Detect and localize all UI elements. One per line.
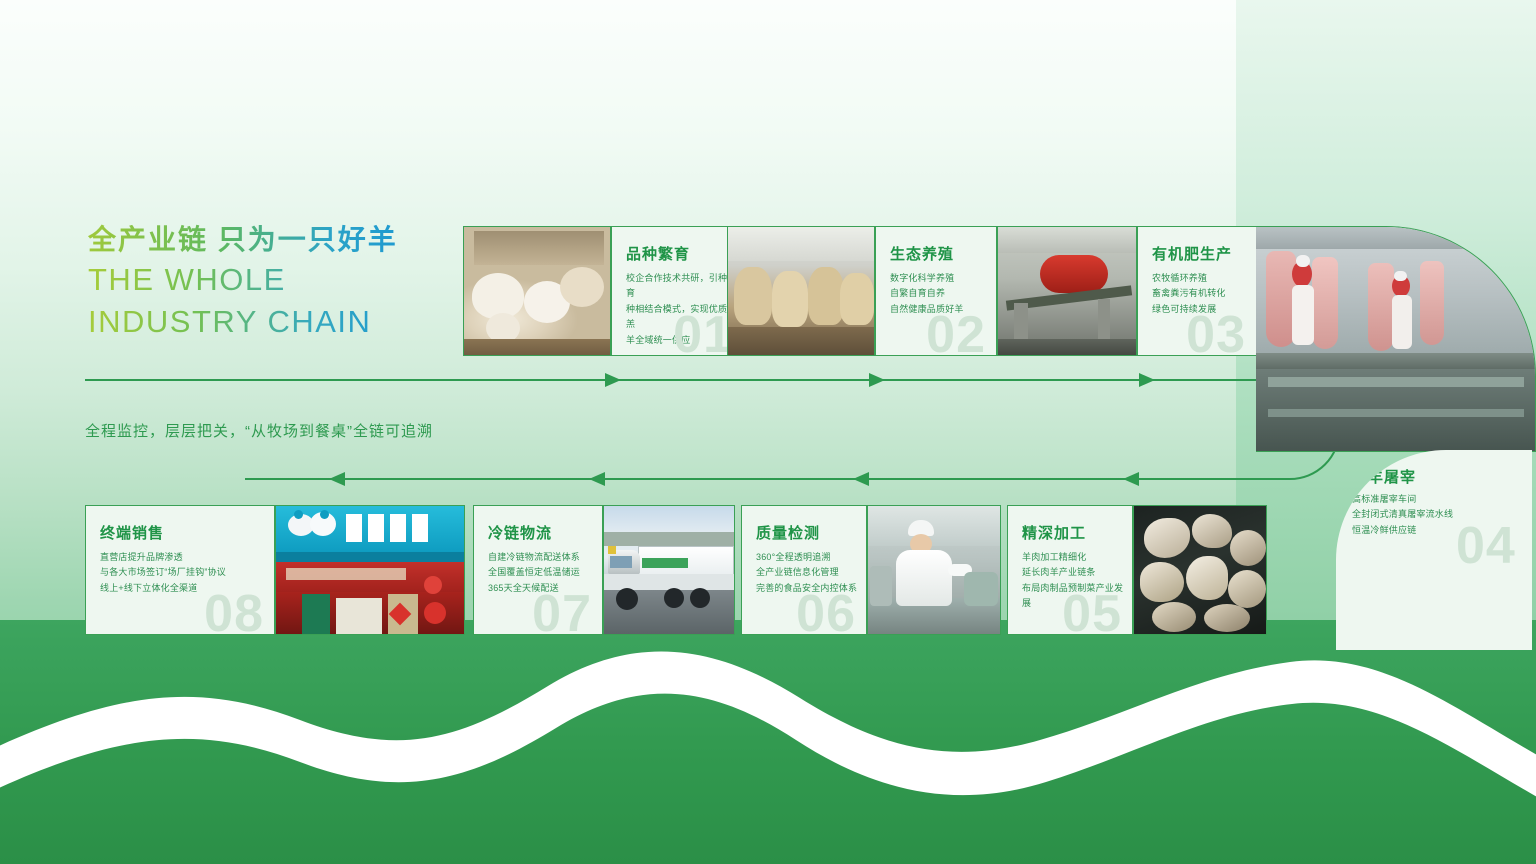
step-8-title: 终端销售 (100, 522, 164, 543)
step-6-title: 质量检测 (756, 522, 820, 543)
step-5-number: 05 (1062, 588, 1122, 635)
page-title-en-line1: THE WHOLE (88, 261, 398, 299)
step-4-card[interactable]: 肉羊屠宰 高标准屠宰车间 全封闭式清真屠宰流水线 恒温冷鲜供应链 04 (1336, 450, 1532, 650)
step-2-photo (727, 226, 875, 356)
step-6-photo (867, 505, 1001, 635)
step-5-title: 精深加工 (1022, 522, 1086, 543)
step-4-photo (1256, 226, 1536, 452)
step-6-number: 06 (796, 588, 856, 635)
step-3-number: 03 (1186, 309, 1246, 356)
step-1-photo (463, 226, 611, 356)
step-7-title: 冷链物流 (488, 522, 552, 543)
step-7-number: 07 (532, 588, 592, 635)
step-7-card[interactable]: 冷链物流 自建冷链物流配送体系 全国覆盖恒定低温储运 365天全天候配送 07 (473, 505, 603, 635)
step-2-card[interactable]: 生态养殖 数字化科学养殖 自繁自育自养 自然健康品质好羊 02 (875, 226, 997, 356)
step-1-number: 01 (673, 309, 733, 356)
step-7-photo (603, 505, 735, 635)
step-3-photo (997, 226, 1137, 356)
step-5-card[interactable]: 精深加工 羊肉加工精细化 延长肉羊产业链条 布局肉制品预制菜产业发展 05 (1007, 505, 1133, 635)
step-1-title: 品种繁育 (626, 243, 690, 264)
step-8-card[interactable]: 终端销售 直营店提升品牌渗透 与各大市场签订“场厂挂钩”协议 线上+线下立体化全… (85, 505, 275, 635)
page-title-cn: 全产业链 只为一只好羊 (88, 222, 398, 257)
step-3-title: 有机肥生产 (1152, 243, 1232, 264)
step-2-title: 生态养殖 (890, 243, 954, 264)
title-block: 全产业链 只为一只好羊 THE WHOLE INDUSTRY CHAIN (88, 222, 398, 341)
step-2-number: 02 (926, 309, 986, 356)
page-title-en-line2: INDUSTRY CHAIN (88, 303, 398, 341)
step-1-card[interactable]: 品种繁育 校企合作技术共研，引种育 种相结合模式，实现优质羔 羊全域统一供应 0… (611, 226, 744, 356)
tagline: 全程监控，层层把关，“从牧场到餐桌”全链可追溯 (85, 420, 433, 441)
step-6-card[interactable]: 质量检测 360°全程透明追溯 全产业链信息化管理 完善的食品安全内控体系 06 (741, 505, 867, 635)
step-8-photo (275, 505, 465, 635)
infographic-canvas: 全产业链 只为一只好羊 THE WHOLE INDUSTRY CHAIN 全程监… (0, 0, 1536, 864)
step-8-number: 08 (204, 588, 264, 635)
step-4-title: 肉羊屠宰 (1352, 466, 1416, 487)
step-5-photo (1133, 505, 1267, 635)
step-4-number: 04 (1456, 520, 1516, 572)
step-3-card[interactable]: 有机肥生产 农牧循环养殖 畜禽粪污有机转化 绿色可持续发展 03 (1137, 226, 1257, 356)
